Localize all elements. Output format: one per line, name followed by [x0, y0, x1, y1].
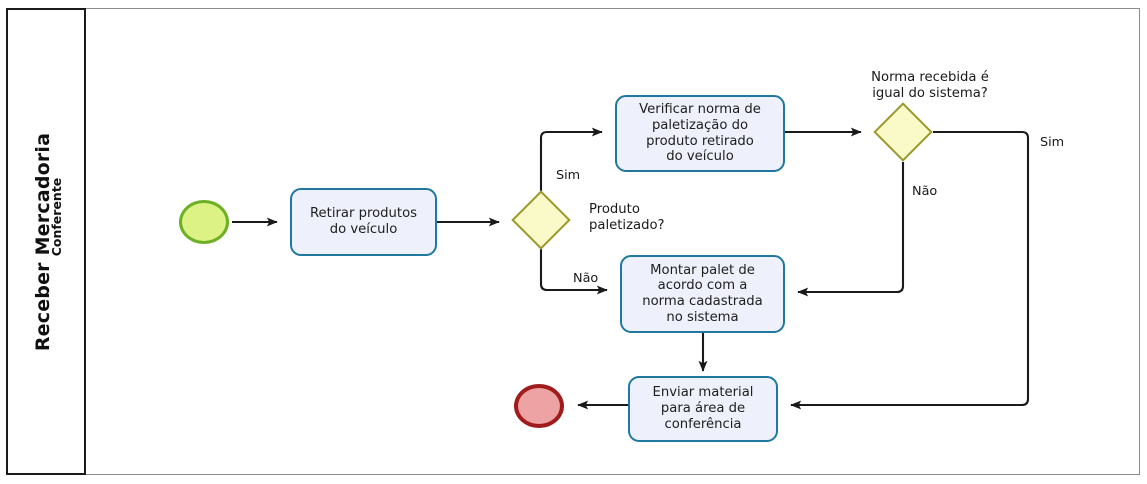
flow-label-gw2-yes: Sim: [1040, 135, 1064, 150]
flow-label-gw2-no: Não: [912, 184, 937, 199]
task-enviar-material[interactable]: Enviar materialpara área deconferência: [628, 376, 778, 442]
task-verificar-norma[interactable]: Verificar norma depaletização doproduto …: [615, 95, 785, 172]
task-retirar-produtos[interactable]: Retirar produtosdo veículo: [290, 188, 437, 256]
task-montar-palet[interactable]: Montar palet deacordo com anorma cadastr…: [620, 255, 785, 333]
gateway-produto-paletizado-label: Produtopaletizado?: [589, 202, 719, 234]
start-event[interactable]: [179, 200, 229, 244]
lane-title: Conferente: [43, 57, 69, 377]
flow-gw2-no-to-montar: [798, 162, 903, 292]
flow-label-gw1-yes: Sim: [556, 168, 580, 183]
end-event[interactable]: [514, 384, 564, 428]
flow-label-gw1-no: Não: [573, 271, 598, 286]
flow-gw2-yes-to-enviar: [791, 132, 1028, 405]
bpmn-diagram-canvas: Receber Mercadoria Conferente: [0, 0, 1147, 484]
gateway-norma-igual-label: Norma recebida éigual do sistema?: [840, 70, 1020, 102]
